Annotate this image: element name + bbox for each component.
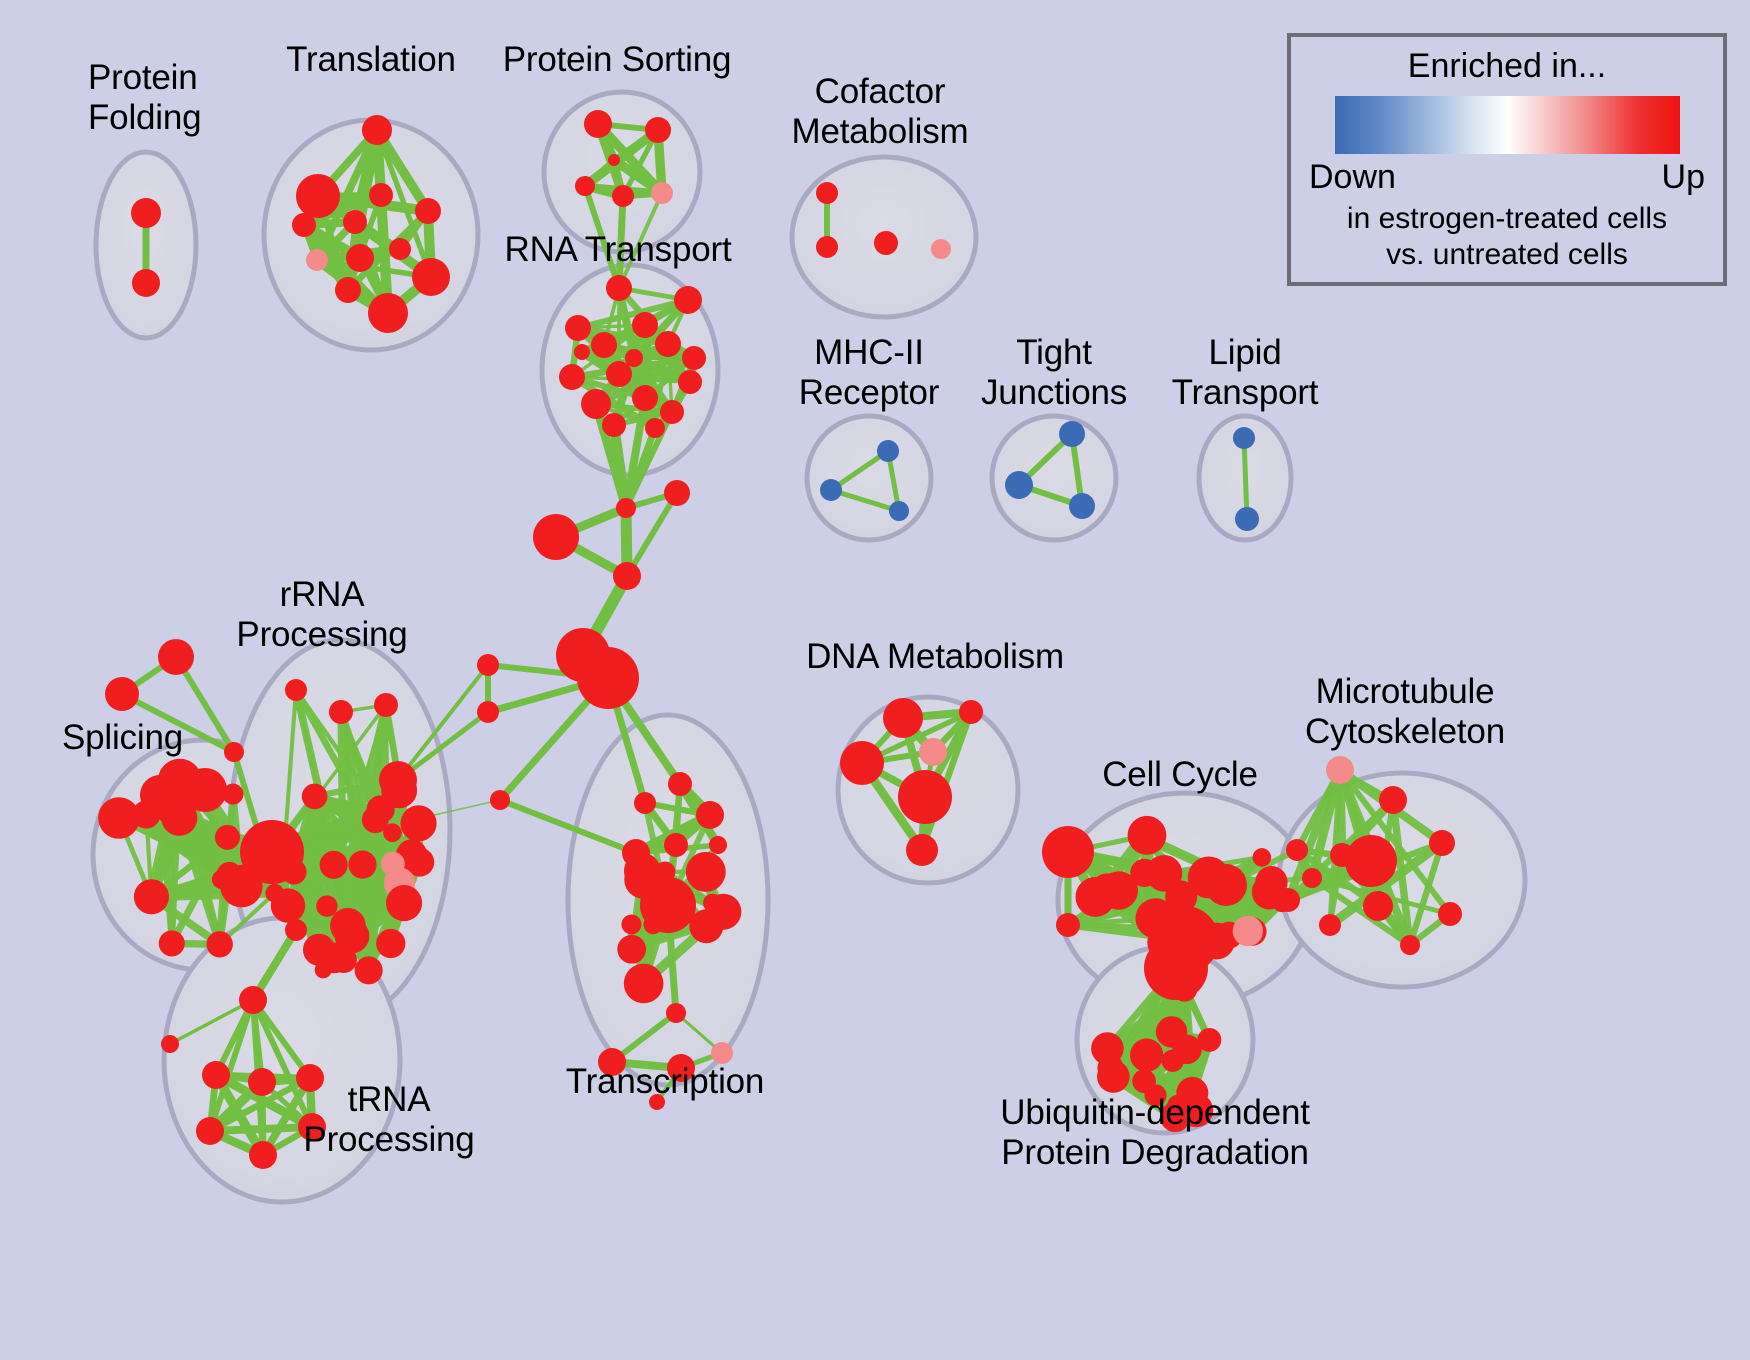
- network-node: [1438, 902, 1462, 926]
- network-node: [381, 852, 405, 876]
- network-node: [584, 110, 612, 138]
- network-node: [581, 389, 611, 419]
- network-node: [1197, 1028, 1221, 1052]
- network-node: [1056, 913, 1080, 937]
- network-node: [711, 1042, 733, 1064]
- network-node: [159, 930, 185, 956]
- cluster-label-translation: Translation: [286, 40, 456, 80]
- network-node: [696, 801, 724, 829]
- network-node: [1059, 421, 1085, 447]
- network-node: [412, 258, 450, 296]
- network-node: [1005, 471, 1033, 499]
- cluster-label-transcription: Transcription: [566, 1062, 764, 1102]
- legend-high-label: Up: [1662, 158, 1705, 197]
- network-node: [621, 914, 641, 934]
- network-node: [415, 198, 441, 224]
- network-node: [559, 364, 585, 390]
- network-node: [346, 244, 374, 272]
- cluster-label-protein-folding: Protein Folding: [88, 58, 201, 138]
- cluster-label-cofactor-metabolism: Cofactor Metabolism: [792, 72, 969, 152]
- cluster-label-tight-junctions: Tight Junctions: [981, 333, 1127, 413]
- network-node: [919, 738, 947, 766]
- network-node: [705, 894, 741, 930]
- network-node: [840, 741, 884, 785]
- network-node: [1429, 830, 1455, 856]
- network-node: [645, 418, 665, 438]
- network-node: [1156, 1016, 1187, 1047]
- network-node: [565, 315, 591, 341]
- network-node: [374, 693, 398, 717]
- network-node: [1345, 835, 1397, 887]
- legend-endpoints: Down Up: [1291, 158, 1723, 197]
- network-node: [1233, 427, 1255, 449]
- network-node: [140, 775, 180, 815]
- network-node: [306, 249, 328, 271]
- network-node: [1319, 914, 1341, 936]
- network-node: [874, 231, 898, 255]
- network-node: [682, 346, 706, 370]
- cluster-hull-mhc-ii-receptor: [807, 416, 931, 540]
- network-node: [303, 934, 335, 966]
- network-node: [329, 700, 353, 724]
- network-node: [343, 210, 367, 234]
- enrichment-network-figure: Protein FoldingTranslationProtein Sortin…: [0, 0, 1750, 1360]
- network-node: [959, 700, 983, 724]
- network-node: [624, 964, 664, 1004]
- network-node: [632, 385, 658, 411]
- network-node: [625, 349, 643, 367]
- network-node: [196, 1117, 224, 1145]
- cluster-label-rrna-processing: rRNA Processing: [236, 575, 407, 655]
- network-node: [320, 851, 348, 879]
- network-node: [296, 174, 340, 218]
- network-node: [678, 370, 702, 394]
- network-node: [335, 277, 361, 303]
- network-node: [1130, 1039, 1163, 1072]
- legend-subtitle-line1: in estrogen-treated cells: [1291, 201, 1723, 237]
- network-node: [217, 862, 243, 888]
- network-node: [645, 117, 671, 143]
- network-node: [575, 176, 595, 196]
- network-node: [634, 792, 656, 814]
- network-node: [248, 1068, 276, 1096]
- network-node: [355, 956, 383, 984]
- network-node: [348, 851, 376, 879]
- network-node: [655, 331, 681, 357]
- cluster-label-ubiquitin-protein-degradation: Ubiquitin-dependent Protein Degradation: [1000, 1093, 1310, 1173]
- network-edge: [1244, 438, 1247, 519]
- cluster-label-splicing: Splicing: [62, 718, 183, 758]
- cluster-label-protein-sorting: Protein Sorting: [503, 40, 732, 80]
- network-node: [240, 820, 304, 884]
- network-node: [898, 770, 952, 824]
- network-node: [158, 639, 194, 675]
- network-node: [224, 742, 244, 762]
- network-node: [622, 839, 650, 867]
- network-node: [1286, 839, 1308, 861]
- network-node: [877, 440, 899, 462]
- network-node: [285, 679, 307, 701]
- network-node: [1253, 848, 1272, 867]
- network-node: [161, 1035, 179, 1053]
- network-node: [389, 238, 411, 260]
- network-node: [316, 895, 337, 916]
- network-node: [285, 919, 307, 941]
- network-node: [1132, 1069, 1156, 1093]
- network-node: [132, 269, 160, 297]
- network-node: [931, 239, 951, 259]
- network-node: [292, 213, 316, 237]
- network-node: [105, 677, 139, 711]
- cluster-label-dna-metabolism: DNA Metabolism: [806, 637, 1064, 677]
- network-node: [1379, 786, 1407, 814]
- network-node: [131, 198, 161, 228]
- network-node: [331, 947, 357, 973]
- network-node: [1326, 756, 1354, 784]
- network-node: [664, 833, 688, 857]
- cluster-label-lipid-transport: Lipid Transport: [1172, 333, 1319, 413]
- network-node: [1100, 871, 1138, 909]
- network-node: [883, 698, 923, 738]
- network-node: [1042, 826, 1094, 878]
- network-node: [1091, 1032, 1124, 1065]
- network-node: [816, 236, 838, 258]
- network-node: [617, 935, 646, 964]
- network-node: [668, 772, 692, 796]
- network-node: [271, 888, 305, 922]
- cluster-label-cell-cycle: Cell Cycle: [1102, 755, 1258, 795]
- network-node: [613, 562, 641, 590]
- network-node: [1205, 864, 1247, 906]
- network-node: [239, 986, 267, 1014]
- network-node: [330, 908, 366, 944]
- network-node: [1235, 507, 1259, 531]
- network-node: [577, 647, 639, 709]
- network-node: [591, 332, 617, 358]
- network-node: [533, 514, 579, 560]
- cluster-label-trna-processing: tRNA Processing: [303, 1080, 474, 1160]
- network-node: [98, 797, 140, 839]
- network-node: [490, 790, 510, 810]
- network-node: [660, 400, 684, 424]
- network-node: [1069, 493, 1095, 519]
- network-node: [315, 962, 332, 979]
- legend-colorbar: [1335, 96, 1680, 154]
- network-node: [1302, 868, 1322, 888]
- network-node: [215, 825, 240, 850]
- network-node: [477, 654, 499, 676]
- network-node: [1161, 1050, 1183, 1072]
- network-node: [206, 931, 232, 957]
- network-node: [1400, 935, 1420, 955]
- network-node: [606, 275, 632, 301]
- network-node: [362, 115, 392, 145]
- network-node: [820, 479, 842, 501]
- legend-box: Enriched in... Down Up in estrogen-treat…: [1287, 33, 1727, 286]
- cluster-label-mhc-ii-receptor: MHC-II Receptor: [799, 333, 939, 413]
- network-node: [674, 286, 702, 314]
- network-node: [376, 929, 405, 958]
- network-node: [709, 836, 727, 854]
- network-node: [302, 784, 328, 810]
- network-node: [602, 413, 626, 437]
- legend-title: Enriched in...: [1291, 47, 1723, 86]
- network-node: [889, 501, 909, 521]
- network-node: [686, 852, 726, 892]
- network-node: [369, 183, 393, 207]
- network-node: [134, 879, 169, 914]
- network-node: [368, 293, 408, 333]
- network-node: [1144, 936, 1208, 1000]
- network-node: [664, 480, 690, 506]
- network-node: [477, 701, 499, 723]
- network-node: [608, 154, 620, 166]
- network-node: [386, 885, 422, 921]
- network-node: [1128, 816, 1167, 855]
- network-node: [816, 182, 838, 204]
- network-node: [183, 768, 227, 812]
- legend-subtitle-line2: vs. untreated cells: [1291, 237, 1723, 273]
- network-node: [383, 823, 402, 842]
- network-node: [1363, 891, 1393, 921]
- network-node: [202, 1061, 230, 1089]
- network-node: [1146, 855, 1183, 892]
- network-node: [249, 1141, 277, 1169]
- network-node: [574, 344, 590, 360]
- network-node: [379, 761, 417, 799]
- network-node: [616, 498, 636, 518]
- legend-low-label: Down: [1309, 158, 1396, 197]
- network-node: [1276, 888, 1300, 912]
- network-node: [612, 185, 634, 207]
- network-node: [666, 1003, 686, 1023]
- network-node: [651, 182, 673, 204]
- network-node: [606, 361, 632, 387]
- network-node: [632, 312, 658, 338]
- network-node: [400, 805, 436, 841]
- cluster-label-rna-transport: RNA Transport: [505, 230, 732, 270]
- network-node: [640, 877, 696, 933]
- network-node: [906, 834, 938, 866]
- cluster-label-microtubule-cytoskeleton: Microtubule Cytoskeleton: [1305, 672, 1505, 752]
- network-node: [1233, 916, 1263, 946]
